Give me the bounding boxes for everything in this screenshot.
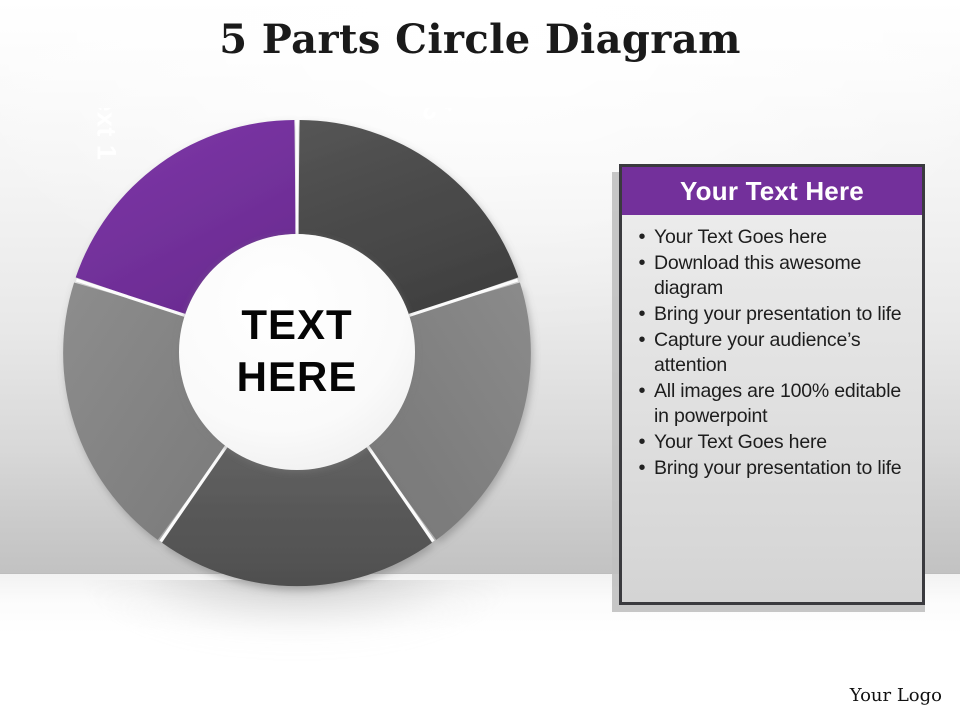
list-item-label: All images are 100% editable in powerpoi… [654,379,908,429]
list-item-label: Your Text Goes here [654,430,827,455]
list-item-label: Bring your presentation to life [654,302,901,327]
text-panel-body: • Your Text Goes here • Download this aw… [622,215,922,481]
donut-svg: TEXT HERE Text 1 Text 2 Text 3 Text 4 Te… [55,108,541,608]
slide-canvas: 5 Parts Circle Diagram [0,0,960,720]
text-panel-header: Your Text Here [622,167,922,215]
bullet-dot-icon: • [630,302,654,327]
bullet-dot-icon: • [630,251,654,276]
bullet-dot-icon: • [630,379,654,404]
text-panel-title: Your Text Here [680,176,864,207]
bullet-dot-icon: • [630,430,654,455]
center-text-line-2: HERE [237,353,358,400]
center-text-line-1: TEXT [241,301,352,348]
list-item-label: Capture your audience’s attention [654,328,908,378]
bullet-dot-icon: • [630,456,654,481]
list-item[interactable]: • All images are 100% editable in powerp… [630,379,908,429]
list-item[interactable]: • Your Text Goes here [630,225,908,250]
list-item[interactable]: • Your Text Goes here [630,430,908,455]
list-item-label: Bring your presentation to life [654,456,901,481]
donut-label-text-1: Text 1 [92,108,122,160]
list-item-label: Your Text Goes here [654,225,827,250]
donut-center-hub[interactable] [179,234,415,470]
list-item[interactable]: • Bring your presentation to life [630,456,908,481]
list-item[interactable]: • Download this awesome diagram [630,251,908,301]
donut-label-text-2: Text 2 [416,108,500,126]
bullet-list: • Your Text Goes here • Download this aw… [630,225,908,481]
list-item[interactable]: • Capture your audience’s attention [630,328,908,378]
circle-diagram: TEXT HERE Text 1 Text 2 Text 3 Text 4 Te… [55,108,541,608]
bullet-dot-icon: • [630,225,654,250]
list-item-label: Download this awesome diagram [654,251,908,301]
list-item[interactable]: • Bring your presentation to life [630,302,908,327]
text-panel: Your Text Here • Your Text Goes here • D… [619,164,925,605]
page-title: 5 Parts Circle Diagram [0,16,960,63]
bullet-dot-icon: • [630,328,654,353]
logo-placeholder: Your Logo [850,685,942,706]
